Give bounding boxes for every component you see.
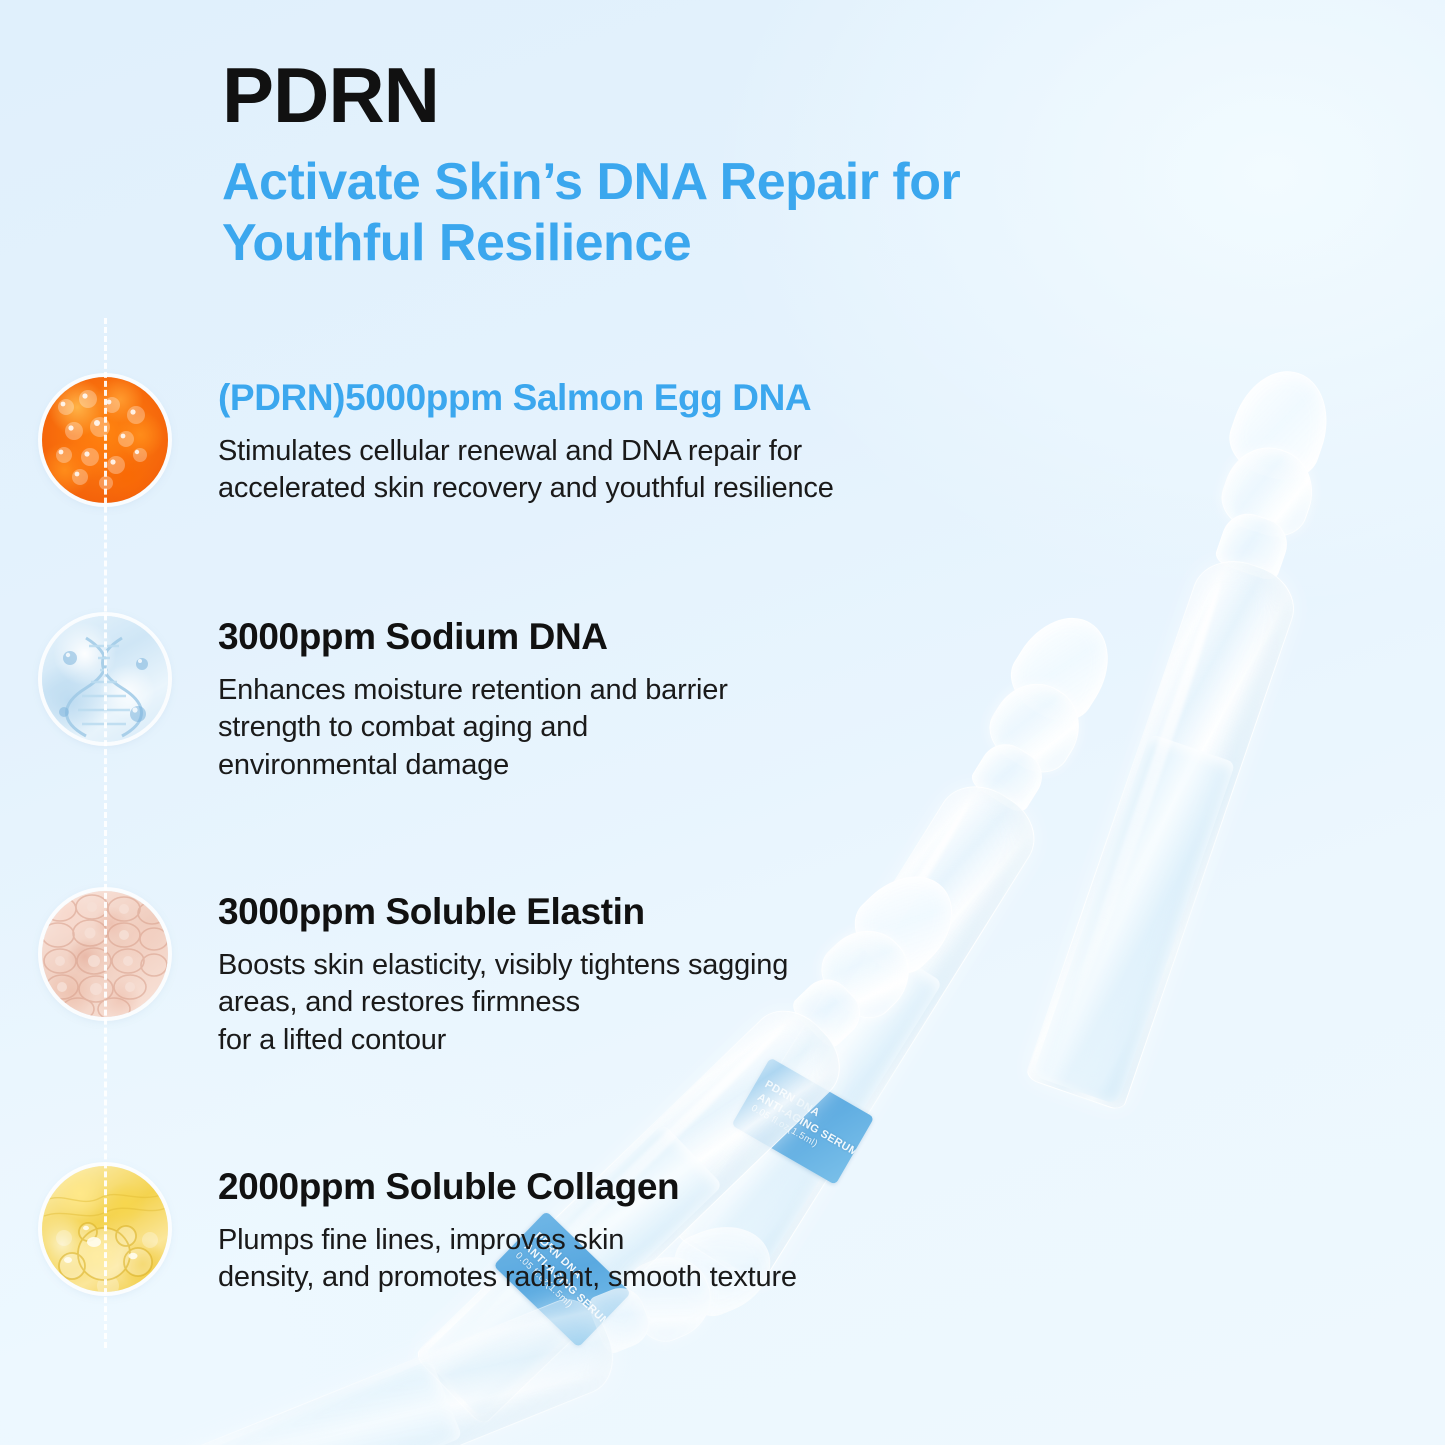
ampoule-cap bbox=[1213, 436, 1324, 546]
ampoule-tip bbox=[1220, 358, 1342, 490]
feature-text-2: 3000ppm Sodium DNA Enhances moisture ret… bbox=[218, 617, 728, 785]
ampoule-cap bbox=[978, 668, 1095, 785]
ampoule-body bbox=[125, 1288, 625, 1445]
feature-description-4: Plumps fine lines, improves skin density… bbox=[218, 1222, 797, 1297]
ampoule-label-line3: 0.05 fl.oz(1.5ml) bbox=[748, 1103, 843, 1165]
ampoule-neck bbox=[968, 735, 1052, 816]
tagline: Activate Skin’s DNA Repair for Youthful … bbox=[222, 152, 1162, 274]
feature-heading-3: 3000ppm Soluble Elastin bbox=[218, 892, 788, 933]
ampoule-fluid bbox=[133, 1359, 463, 1445]
feature-text-4: 2000ppm Soluble Collagen Plumps fine lin… bbox=[218, 1167, 797, 1297]
ampoule-neck bbox=[788, 969, 870, 1051]
timeline-dashed-line bbox=[104, 318, 107, 1348]
feature-description-3: Boosts skin elasticity, visibly tightens… bbox=[218, 947, 788, 1060]
feature-heading-4: 2000ppm Soluble Collagen bbox=[218, 1167, 797, 1208]
ampoule-label-line2: ANTI-AGING SERUM bbox=[755, 1090, 851, 1154]
feature-text-1: (PDRN)5000ppm Salmon Egg DNA Stimulates … bbox=[218, 378, 834, 508]
ampoule-1 bbox=[995, 354, 1384, 1121]
ampoule-tip bbox=[998, 600, 1128, 735]
ampoule-label-line1: PDRN DNA bbox=[762, 1078, 858, 1142]
feature-text-3: 3000ppm Soluble Elastin Boosts skin elas… bbox=[218, 892, 788, 1060]
feature-description-2: Enhances moisture retention and barrier … bbox=[218, 672, 728, 785]
feature-heading-2: 3000ppm Sodium DNA bbox=[218, 617, 728, 658]
ampoule-label: PDRN DNA ANTI-AGING SERUM 0.05 fl.oz(1.5… bbox=[731, 1057, 874, 1185]
feature-description-1: Stimulates cellular renewal and DNA repa… bbox=[218, 433, 834, 508]
brand-title: PDRN bbox=[222, 58, 1182, 132]
ampoule-fluid bbox=[1033, 733, 1236, 1105]
ampoule-tip bbox=[841, 856, 973, 987]
ampoule-highlight bbox=[1061, 580, 1226, 1029]
ampoule-neck bbox=[1213, 507, 1294, 583]
infographic-poster: PDRN DNA ANTI-AGING SERUM 0.05 fl.oz(1.5… bbox=[0, 0, 1445, 1445]
ampoule-cap bbox=[809, 913, 926, 1030]
feature-heading-1: (PDRN)5000ppm Salmon Egg DNA bbox=[218, 378, 834, 419]
ampoule-body bbox=[1024, 549, 1305, 1112]
title-block: PDRN Activate Skin’s DNA Repair for Yout… bbox=[222, 58, 1182, 274]
